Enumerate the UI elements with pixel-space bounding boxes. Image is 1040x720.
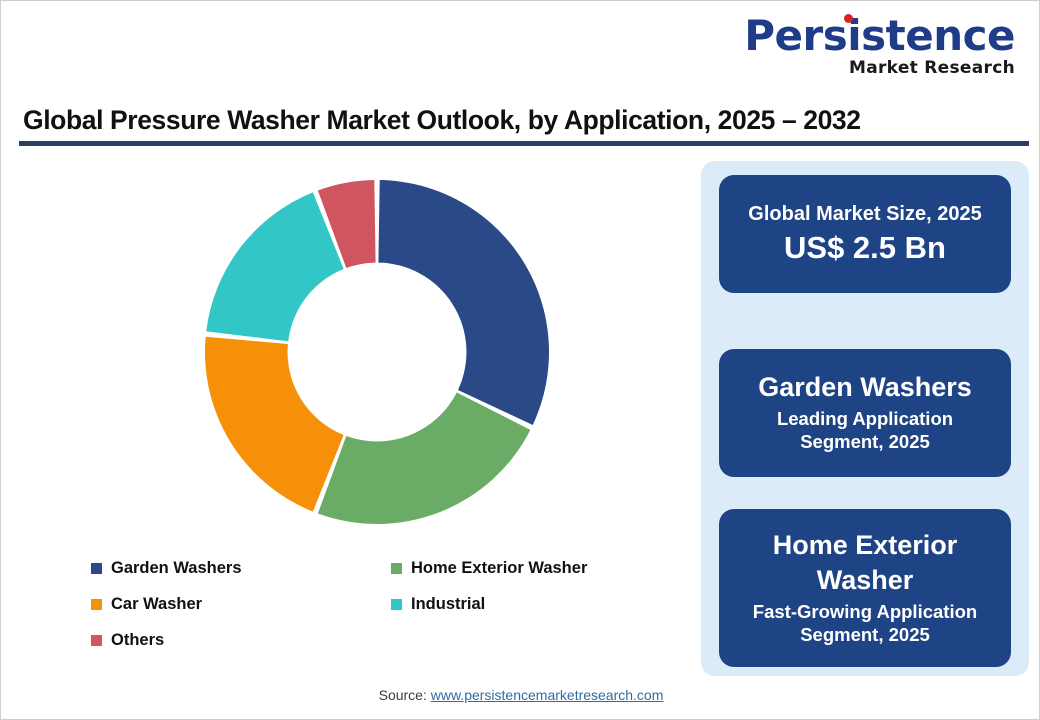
leading-segment-line2: Segment, 2025 bbox=[800, 430, 930, 453]
donut-slice[interactable] bbox=[205, 337, 344, 512]
legend-label: Garden Washers bbox=[111, 559, 242, 578]
donut-chart-svg bbox=[201, 176, 553, 528]
donut-slice[interactable] bbox=[206, 192, 343, 341]
source-prefix: Source: bbox=[379, 687, 431, 703]
logo-tagline: Market Research bbox=[744, 60, 1015, 77]
source-footer: Source: www.persistencemarketresearch.co… bbox=[1, 687, 1040, 703]
card-fastest-segment: Home Exterior Washer Fast-Growing Applic… bbox=[719, 509, 1011, 667]
leading-segment-name: Garden Washers bbox=[758, 372, 972, 404]
market-size-value: US$ 2.5 Bn bbox=[784, 229, 946, 266]
legend-label: Industrial bbox=[411, 595, 485, 614]
fastest-segment-name-line1: Home Exterior bbox=[773, 530, 958, 562]
fastest-segment-name-line2: Washer bbox=[817, 565, 914, 597]
donut-slice[interactable] bbox=[318, 392, 530, 524]
legend-swatch-icon bbox=[391, 599, 402, 610]
legend-swatch-icon bbox=[391, 563, 402, 574]
legend-label: Home Exterior Washer bbox=[411, 559, 587, 578]
highlights-panel: Global Market Size, 2025 US$ 2.5 Bn Gard… bbox=[701, 161, 1029, 676]
legend-item[interactable]: Industrial bbox=[391, 586, 691, 622]
page-title: Global Pressure Washer Market Outlook, b… bbox=[23, 105, 861, 136]
legend-swatch-icon bbox=[91, 635, 102, 646]
logo-wordmark: Persistence bbox=[744, 15, 1015, 57]
legend-item[interactable]: Garden Washers bbox=[91, 550, 391, 586]
donut-chart bbox=[201, 176, 553, 528]
legend-swatch-icon bbox=[91, 599, 102, 610]
brand-logo: Persistence Market Research bbox=[744, 15, 1015, 77]
chart-area: Garden WashersHome Exterior WasherCar Wa… bbox=[15, 156, 685, 666]
logo-wordmark-text: Persistence bbox=[744, 11, 1015, 60]
legend-item[interactable]: Others bbox=[91, 622, 391, 658]
fastest-segment-line2: Segment, 2025 bbox=[800, 623, 930, 646]
market-size-caption: Global Market Size, 2025 bbox=[748, 202, 981, 226]
chart-legend: Garden WashersHome Exterior WasherCar Wa… bbox=[91, 550, 691, 658]
infographic-root: Persistence Market Research Global Press… bbox=[0, 0, 1040, 720]
legend-label: Others bbox=[111, 631, 164, 650]
card-leading-segment: Garden Washers Leading Application Segme… bbox=[719, 349, 1011, 477]
title-divider bbox=[19, 141, 1029, 146]
donut-slice-group bbox=[205, 180, 549, 524]
legend-label: Car Washer bbox=[111, 595, 202, 614]
card-market-size: Global Market Size, 2025 US$ 2.5 Bn bbox=[719, 175, 1011, 293]
fastest-segment-line1: Fast-Growing Application bbox=[753, 600, 977, 623]
leading-segment-line1: Leading Application bbox=[777, 407, 953, 430]
legend-swatch-icon bbox=[91, 563, 102, 574]
source-link[interactable]: www.persistencemarketresearch.com bbox=[431, 687, 664, 703]
donut-slice[interactable] bbox=[378, 180, 549, 425]
legend-item[interactable]: Home Exterior Washer bbox=[391, 550, 691, 586]
legend-item[interactable]: Car Washer bbox=[91, 586, 391, 622]
